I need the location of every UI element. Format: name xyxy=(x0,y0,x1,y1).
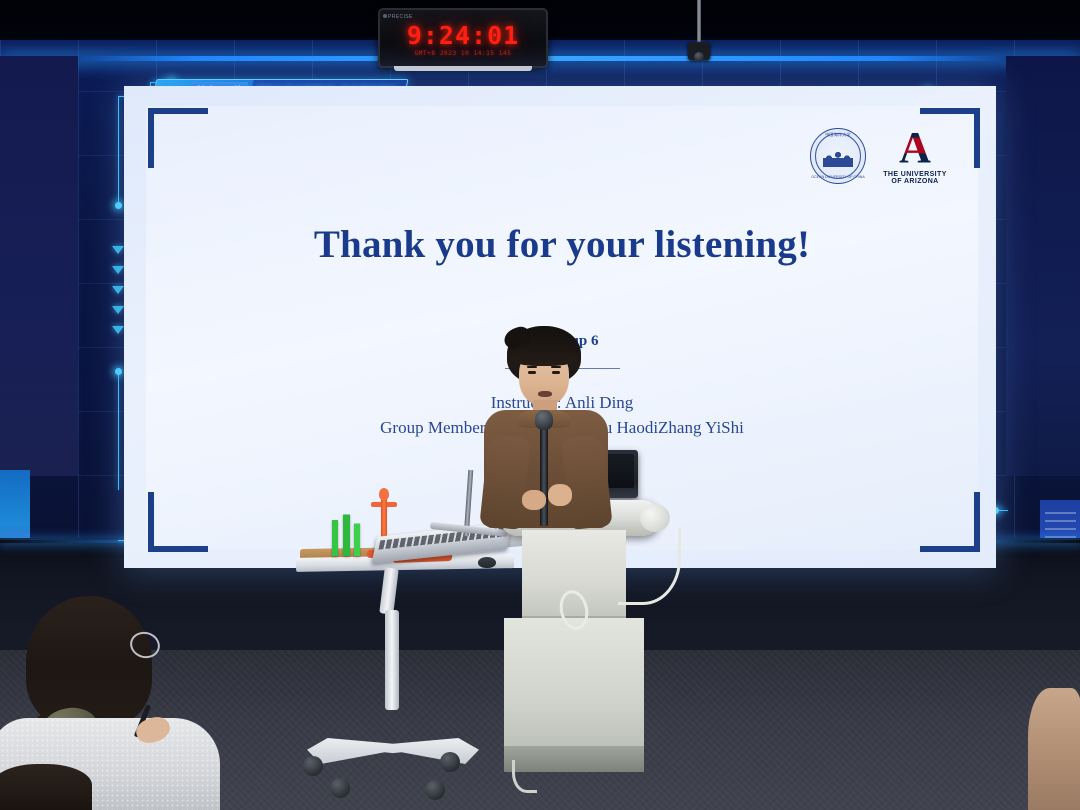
cart-pole xyxy=(385,610,399,710)
clock-time-display: 9:24:01 xyxy=(380,21,546,50)
arizona-a-mark-icon: A xyxy=(892,128,938,168)
audience-member-right xyxy=(1028,688,1080,810)
seal-top-text: 中国海洋大学 xyxy=(811,132,865,138)
presenter-eye-right xyxy=(552,371,560,374)
clock-base-strip xyxy=(394,66,532,71)
cart-caster-1 xyxy=(303,756,323,776)
seal-bottom-text: OCEAN UNIVERSITY OF CHINA xyxy=(811,175,865,179)
green-3d-model xyxy=(332,512,362,556)
arizona-line-2: OF ARIZONA xyxy=(880,178,950,185)
presenter-hand-left xyxy=(522,490,546,510)
presenter-eye-left xyxy=(528,371,536,374)
clock-date-display: GMT+8 2023 10 14:15 145 xyxy=(380,50,546,57)
poster-right-heading-lines xyxy=(1045,512,1076,538)
audience-member-foreground xyxy=(0,596,220,810)
arizona-line-1: THE UNIVERSITY xyxy=(880,171,950,178)
presenter-hand-right xyxy=(548,484,572,506)
cart-caster-2 xyxy=(440,752,460,772)
slide-corner-bottom-left xyxy=(148,492,208,552)
slide-logos: 中国海洋大学 OCEAN UNIVERSITY OF CHINA A THE U… xyxy=(810,128,950,185)
microphone-head-icon xyxy=(535,410,553,430)
seal-figures-icon xyxy=(823,144,853,168)
microphone-handle xyxy=(540,422,548,526)
slide-corner-top-left xyxy=(148,108,208,168)
ouc-seal-logo-icon: 中国海洋大学 OCEAN UNIVERSITY OF CHINA xyxy=(810,128,866,184)
slide-title: Thank you for your listening! xyxy=(146,222,978,267)
mouse xyxy=(478,557,496,568)
clock-brand-label: PRECISE xyxy=(388,14,413,20)
presenter xyxy=(478,326,614,526)
wall-right-panel xyxy=(1006,56,1080,476)
lecture-hall-photo: PRECISE 9:24:01 GMT+8 2023 10 14:15 145 … xyxy=(0,0,1080,810)
audience-hair xyxy=(26,596,152,728)
wall-left-panel xyxy=(0,56,78,476)
camera-lens-icon xyxy=(694,52,704,61)
arizona-a-glyph: A xyxy=(899,123,931,172)
arizona-logo: A THE UNIVERSITY OF ARIZONA xyxy=(880,128,950,185)
presenter-mouth xyxy=(538,391,552,397)
clock-power-dot-icon xyxy=(383,14,387,18)
slide-corner-bottom-right xyxy=(920,492,980,552)
audience-member-second xyxy=(0,764,92,810)
camera-mount-rod xyxy=(697,0,701,44)
presenter-brow-right xyxy=(551,366,561,368)
orange-model-head xyxy=(379,488,389,500)
cart-caster-4 xyxy=(425,780,445,800)
cart-caster-3 xyxy=(330,778,350,798)
presenter-brow-left xyxy=(527,366,537,368)
digital-clock: PRECISE 9:24:01 GMT+8 2023 10 14:15 145 xyxy=(378,8,548,68)
